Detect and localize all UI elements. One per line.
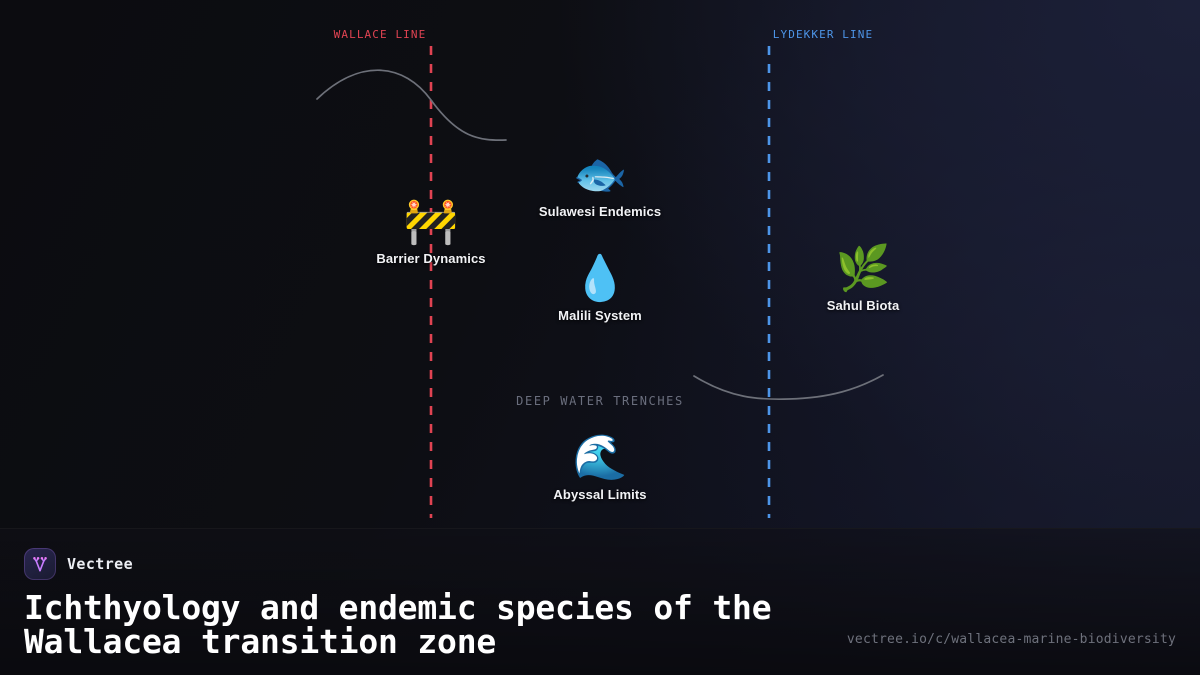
node-sulawesi-endemics[interactable]: 🐟 Sulawesi Endemics xyxy=(490,149,710,219)
ocean-wave-icon: 🌊 xyxy=(490,432,710,484)
brand-name: Vectree xyxy=(67,555,133,573)
deep-water-trenches-caption: DEEP WATER TRENCHES xyxy=(516,394,684,408)
node-sahul-biota[interactable]: 🌿 Sahul Biota xyxy=(753,243,973,313)
fish-icon: 🐟 xyxy=(490,149,710,201)
upper-sigmoid-curve xyxy=(317,70,506,140)
page-title: Ichthyology and endemic species of the W… xyxy=(24,591,804,659)
brand-block[interactable]: Vectree xyxy=(24,547,1176,581)
node-malili-system[interactable]: 💧 Malili System xyxy=(490,253,710,323)
node-label: Malili System xyxy=(490,308,710,323)
vectree-logo-icon xyxy=(24,548,56,580)
lower-catenary-curve xyxy=(694,375,883,399)
screenshot-root: WALLACE LINE LYDEKKER LINE DEEP WATER TR… xyxy=(0,0,1200,675)
footer-bar: Vectree Ichthyology and endemic species … xyxy=(0,528,1200,675)
water-droplet-icon: 💧 xyxy=(490,253,710,305)
lydekker-line-label: LYDEKKER LINE xyxy=(773,28,873,41)
node-label: Sulawesi Endemics xyxy=(490,204,710,219)
diagram-canvas[interactable]: WALLACE LINE LYDEKKER LINE DEEP WATER TR… xyxy=(0,0,1200,528)
herb-leaf-icon: 🌿 xyxy=(753,243,973,295)
node-abyssal-limits[interactable]: 🌊 Abyssal Limits xyxy=(490,432,710,502)
share-url: vectree.io/c/wallacea-marine-biodiversit… xyxy=(847,632,1176,647)
node-label: Abyssal Limits xyxy=(490,487,710,502)
node-label: Sahul Biota xyxy=(753,298,973,313)
wallace-line-label: WALLACE LINE xyxy=(334,28,427,41)
